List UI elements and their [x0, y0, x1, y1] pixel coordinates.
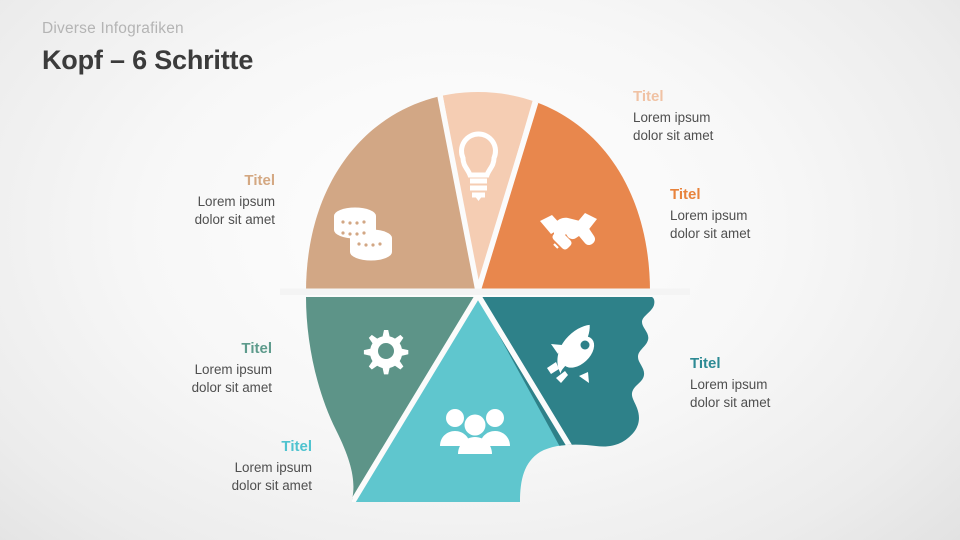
callout-body: Lorem ipsum dolor sit amet [633, 109, 843, 145]
callout-top-center[interactable]: Titel Lorem ipsum dolor sit amet [633, 88, 843, 145]
callout-body: Lorem ipsum dolor sit amet [62, 361, 272, 397]
callout-title: Titel [670, 186, 880, 203]
callout-top-left[interactable]: Titel Lorem ipsum dolor sit amet [65, 172, 275, 229]
callout-title: Titel [65, 172, 275, 189]
callout-bottom-left[interactable]: Titel Lorem ipsum dolor sit amet [62, 340, 272, 397]
callout-bottom-right[interactable]: Titel Lorem ipsum dolor sit amet [690, 355, 900, 412]
callout-body: Lorem ipsum dolor sit amet [102, 459, 312, 495]
callout-bottom-center[interactable]: Titel Lorem ipsum dolor sit amet [102, 438, 312, 495]
horizontal-divider [280, 289, 690, 296]
head-six-steps-diagram: Titel Lorem ipsum dolor sit amet Titel L… [0, 0, 960, 540]
callout-body: Lorem ipsum dolor sit amet [690, 376, 900, 412]
callout-body: Lorem ipsum dolor sit amet [65, 193, 275, 229]
gear-icon [364, 330, 408, 374]
callout-title: Titel [690, 355, 900, 372]
callout-title: Titel [633, 88, 843, 105]
callout-top-right[interactable]: Titel Lorem ipsum dolor sit amet [670, 186, 880, 243]
callout-title: Titel [62, 340, 272, 357]
callout-body: Lorem ipsum dolor sit amet [670, 207, 880, 243]
head-bottom-group [292, 295, 680, 525]
callout-title: Titel [102, 438, 312, 455]
